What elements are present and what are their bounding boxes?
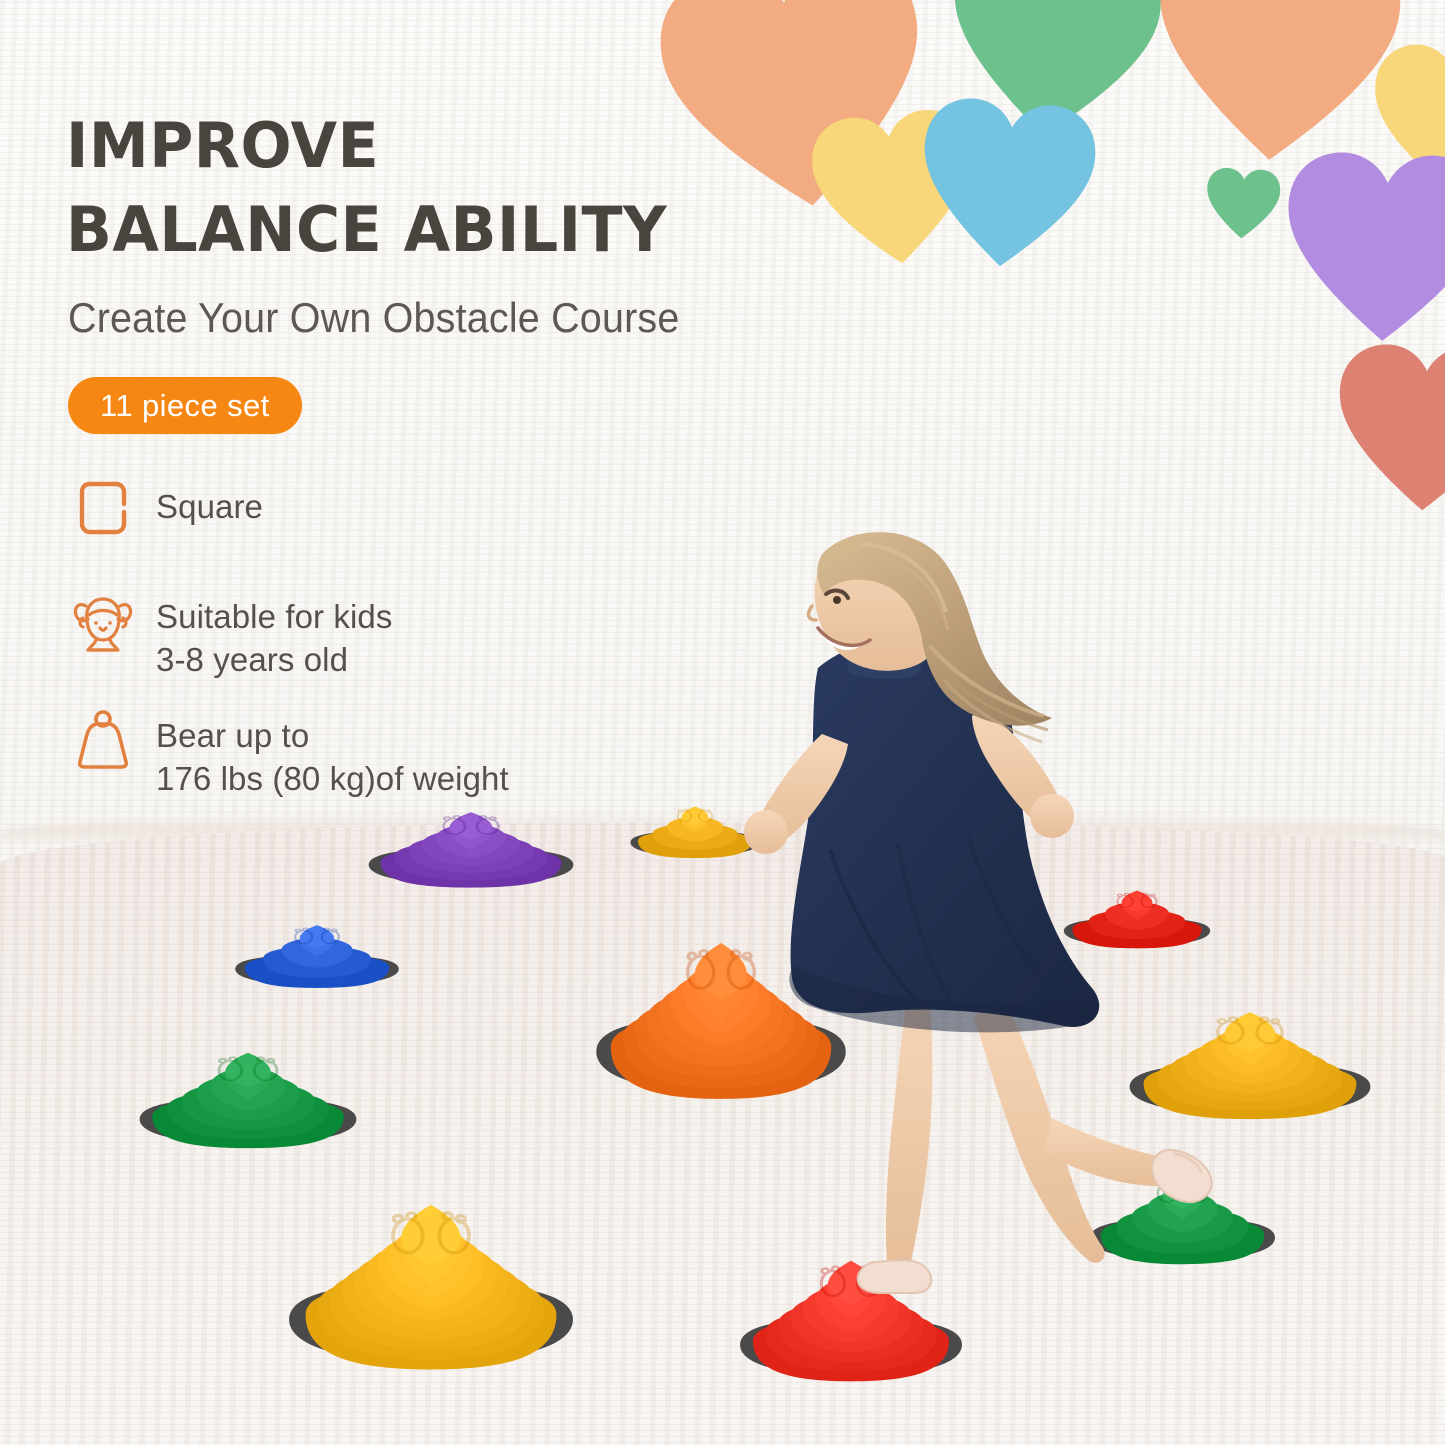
stone-yellow-big (266, 1152, 596, 1414)
heart-salmon-1 (1332, 341, 1445, 517)
feature-item-2: Suitable for kids 3-8 years old (64, 592, 393, 681)
page-subtitle: Create Your Own Obstacle Course (68, 294, 680, 342)
stone-blue (222, 905, 412, 1005)
product-hero-banner: IMPROVEBALANCE ABILITYCreate Your Own Ob… (0, 0, 1445, 1445)
heart-blue-1 (911, 93, 1103, 278)
heart-purple-1 (1280, 148, 1445, 348)
stone-purple (352, 788, 590, 908)
title-line-1: IMPROVE (66, 104, 881, 188)
feature-item-3: Bear up to 176 lbs (80 kg)of weight (64, 708, 509, 800)
page-title: IMPROVEBALANCE ABILITY (66, 104, 906, 272)
square-icon (64, 476, 142, 538)
feature-label-1: Square (142, 476, 263, 528)
badge-label: 11 piece set (100, 388, 270, 424)
heart-peach-2 (1144, 0, 1410, 173)
running-girl-photo (700, 520, 1260, 1280)
girl-icon (64, 592, 142, 658)
piece-count-badge: 11 piece set (68, 377, 302, 434)
heart-green-2 (1203, 166, 1283, 242)
feature-item-1: Square (64, 476, 263, 538)
weight-icon (64, 708, 142, 772)
feature-label-3: Bear up to 176 lbs (80 kg)of weight (142, 708, 509, 800)
feature-label-2: Suitable for kids 3-8 years old (142, 592, 393, 681)
title-line-2: BALANCE ABILITY (66, 188, 881, 272)
